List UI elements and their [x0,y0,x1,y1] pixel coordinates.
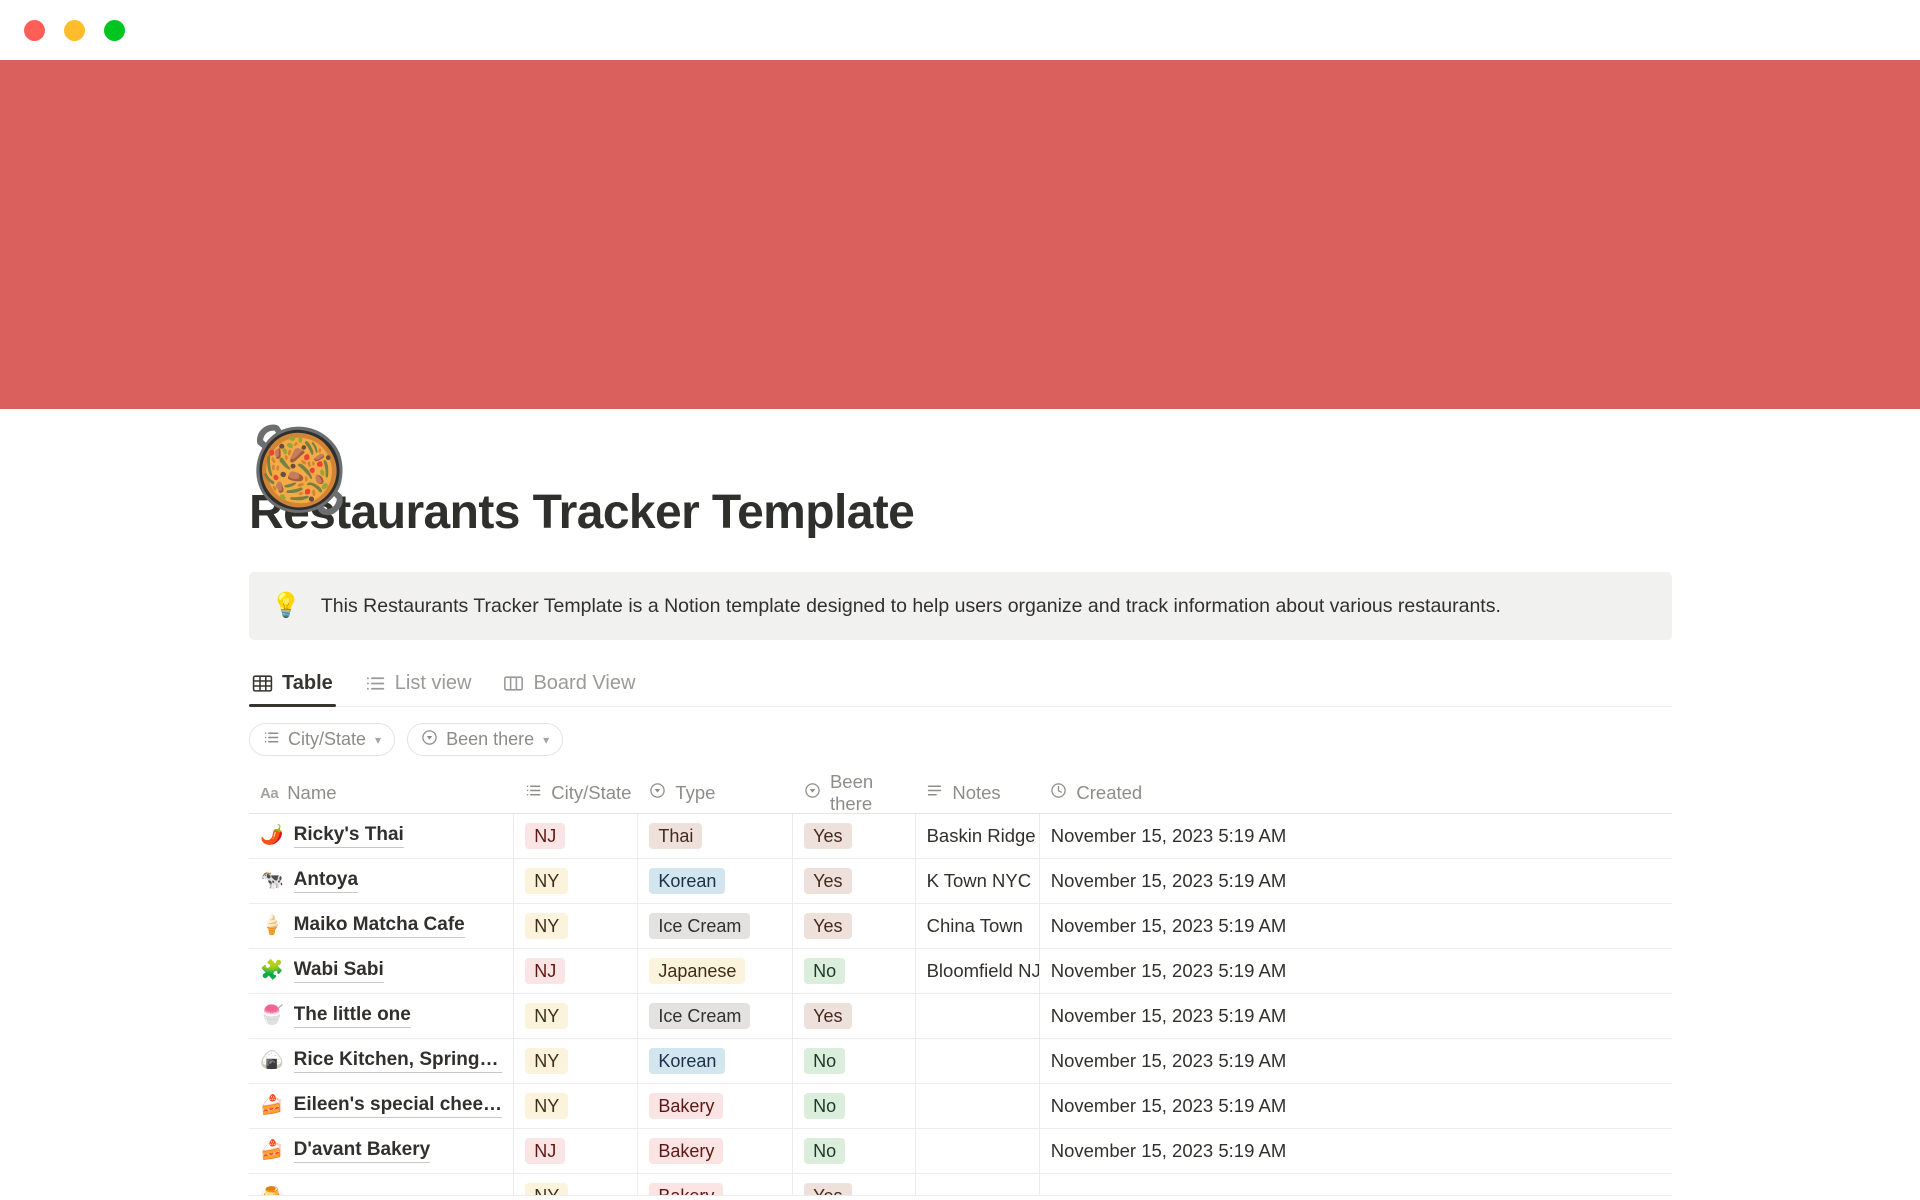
callout-block[interactable]: 💡 This Restaurants Tracker Template is a… [249,572,1672,640]
table-icon [252,673,273,694]
cell-created[interactable]: November 15, 2023 5:19 AM [1040,859,1672,903]
tag-type: Ice Cream [649,913,750,939]
row-emoji-icon: 🌶️ [260,825,284,847]
table-header: Aa Name [249,773,1672,814]
table-row[interactable]: 🍙 Rice Kitchen, Spring St, Soho NY Korea… [249,1039,1672,1084]
cell-city-state[interactable]: NY [514,1174,638,1196]
row-title[interactable]: The little one [294,1004,411,1028]
cell-been-there[interactable]: Yes [793,859,915,903]
chevron-down-icon: ▾ [543,733,549,747]
tag-been-there: Yes [804,1183,851,1196]
filter-chip-been-there[interactable]: Been there ▾ [407,723,563,756]
tag-been-there: No [804,1048,845,1074]
filter-chip-city-state-label: City/State [288,729,366,750]
row-emoji-icon: 🍰 [260,1140,284,1162]
column-header-type[interactable]: Type [638,773,793,813]
tag-city-state: NJ [525,823,565,849]
board-icon [503,673,524,694]
cell-name[interactable]: 🍧 The little one [249,994,514,1038]
row-title[interactable]: Ricky's Thai [294,824,404,848]
tag-been-there: No [804,1138,845,1164]
title-icon: Aa [260,785,278,802]
minimize-button[interactable] [64,20,85,41]
cell-been-there[interactable]: Yes [793,814,915,858]
tag-type: Japanese [649,958,745,984]
cell-type[interactable]: Bakery [638,1084,793,1128]
cell-notes[interactable]: K Town NYC [916,859,1040,903]
tab-board-view-label: Board View [533,672,635,695]
tag-city-state: NY [525,1048,568,1074]
column-header-city-state-label: City/State [551,782,631,804]
created-date: November 15, 2023 5:19 AM [1051,1140,1287,1162]
filter-bar: City/State ▾ Been there ▾ [249,723,1672,756]
cell-notes[interactable] [916,1084,1040,1128]
notes-text: Baskin Ridge [927,825,1036,847]
column-header-type-label: Type [675,782,715,804]
table-row[interactable]: 🍧 The little one NY Ice Cream Yes Novemb… [249,994,1672,1039]
cell-created[interactable] [1040,1174,1672,1196]
cell-notes[interactable]: Baskin Ridge [916,814,1040,858]
cell-notes[interactable]: China Town [916,904,1040,948]
cell-created[interactable]: November 15, 2023 5:19 AM [1040,994,1672,1038]
zoom-button[interactable] [104,20,125,41]
tag-been-there: Yes [804,868,851,894]
cell-created[interactable]: November 15, 2023 5:19 AM [1040,1129,1672,1173]
clock-icon [1050,782,1067,804]
table-row[interactable]: 🍰 D'avant Bakery NJ Bakery No November 1… [249,1129,1672,1174]
cell-created[interactable]: November 15, 2023 5:19 AM [1040,814,1672,858]
cell-name[interactable]: 🧩 Wabi Sabi [249,949,514,993]
row-emoji-icon: 🍧 [260,1005,284,1027]
row-emoji-icon: 🍙 [260,1050,284,1072]
tag-type: Ice Cream [649,1003,750,1029]
cell-city-state[interactable]: NJ [514,1129,638,1173]
row-emoji-icon: 🍮 [260,1185,284,1196]
cell-name[interactable]: 🍰 D'avant Bakery [249,1129,514,1173]
tag-type: Thai [649,823,702,849]
column-header-notes[interactable]: Notes [915,773,1039,813]
tag-type: Bakery [649,1183,723,1196]
select-icon [649,782,666,804]
tag-type: Korean [649,1048,725,1074]
cell-name[interactable]: 🌶️ Ricky's Thai [249,814,514,858]
tag-type: Bakery [649,1138,723,1164]
column-header-name[interactable]: Aa Name [249,773,514,813]
row-title[interactable]: Eileen's special cheesecake [294,1094,503,1118]
tab-table[interactable]: Table [249,668,336,706]
notes-text: Bloomfield NJ [927,960,1040,982]
tab-list-view[interactable]: List view [362,668,475,706]
lightbulb-icon: 💡 [271,592,301,620]
multiselect-icon [263,729,280,751]
table-header-row: Aa Name [249,773,1672,814]
tag-city-state: NY [525,868,568,894]
cell-created[interactable]: November 15, 2023 5:19 AM [1040,949,1672,993]
cell-been-there[interactable]: Yes [793,904,915,948]
cell-city-state[interactable]: NY [514,1039,638,1083]
chevron-down-icon: ▾ [375,733,381,747]
tag-been-there: Yes [804,913,851,939]
cell-been-there[interactable]: No [793,1129,915,1173]
cell-city-state[interactable]: NY [514,904,638,948]
tag-been-there: No [804,1093,845,1119]
row-title[interactable]: Antoya [294,869,358,893]
cell-name[interactable]: 🐄 Antoya [249,859,514,903]
created-date: November 15, 2023 5:19 AM [1051,1050,1287,1072]
tag-type: Bakery [649,1093,723,1119]
created-date: November 15, 2023 5:19 AM [1051,960,1287,982]
tag-city-state: NY [525,1003,568,1029]
cell-type[interactable]: Thai [638,814,793,858]
cell-notes[interactable] [916,1174,1040,1196]
column-header-created[interactable]: Created [1039,773,1672,813]
table-row[interactable]: 🍦 Maiko Matcha Cafe NY Ice Cream Yes Chi… [249,904,1672,949]
list-icon [365,673,386,694]
cell-created[interactable]: November 15, 2023 5:19 AM [1040,904,1672,948]
row-title[interactable]: D'avant Bakery [294,1139,431,1163]
table-row[interactable]: 🍮 NY Bakery Yes [249,1174,1672,1196]
cell-notes[interactable] [916,1039,1040,1083]
table-body: 🌶️ Ricky's Thai NJ Thai Yes Baskin Ridge… [249,814,1672,1196]
page-icon-emoji[interactable]: 🥘 [248,423,344,519]
cell-type[interactable]: Korean [638,859,793,903]
table-row[interactable]: 🍰 Eileen's special cheesecake NY Bakery … [249,1084,1672,1129]
cell-name[interactable]: 🍦 Maiko Matcha Cafe [249,904,514,948]
column-header-notes-label: Notes [952,782,1000,804]
tag-type: Korean [649,868,725,894]
created-date: November 15, 2023 5:19 AM [1051,915,1287,937]
notes-text: K Town NYC [927,870,1032,892]
cell-name[interactable]: 🍮 [249,1174,514,1196]
tab-table-label: Table [282,672,333,695]
page-title[interactable]: Restaurants Tracker Template [249,485,1672,540]
text-icon [926,782,943,804]
created-date: November 15, 2023 5:19 AM [1051,825,1287,847]
column-header-created-label: Created [1076,782,1142,804]
select-icon [804,782,821,804]
cell-notes[interactable] [916,1129,1040,1173]
table-row[interactable]: 🌶️ Ricky's Thai NJ Thai Yes Baskin Ridge… [249,814,1672,859]
table-row[interactable]: 🐄 Antoya NY Korean Yes K Town NYC Novemb… [249,859,1672,904]
database-table: Aa Name [249,773,1672,1196]
multiselect-icon [525,782,542,804]
cell-city-state[interactable]: NY [514,994,638,1038]
page-container: 🥘 Restaurants Tracker Template 💡 This Re… [0,485,1920,1200]
cell-type[interactable]: Japanese [638,949,793,993]
cell-created[interactable]: November 15, 2023 5:19 AM [1040,1039,1672,1083]
tab-list-view-label: List view [395,672,472,695]
tag-city-state: NJ [525,958,565,984]
row-title[interactable]: Rice Kitchen, Spring St, Soho [294,1049,503,1073]
tag-city-state: NY [525,913,568,939]
table-row[interactable]: 🧩 Wabi Sabi NJ Japanese No Bloomfield NJ… [249,949,1672,994]
cell-name[interactable]: 🍰 Eileen's special cheesecake [249,1084,514,1128]
row-title[interactable]: Wabi Sabi [294,959,384,983]
row-emoji-icon: 🍦 [260,915,284,937]
cell-type[interactable]: Bakery [638,1129,793,1173]
cell-type[interactable]: Ice Cream [638,904,793,948]
cell-notes[interactable]: Bloomfield NJ [916,949,1040,993]
cell-been-there[interactable]: No [793,949,915,993]
column-header-city-state[interactable]: City/State [514,773,638,813]
callout-text: This Restaurants Tracker Template is a N… [321,592,1501,620]
cell-been-there[interactable]: Yes [793,994,915,1038]
tab-board-view[interactable]: Board View [500,668,638,706]
cell-city-state[interactable]: NJ [514,949,638,993]
cell-city-state[interactable]: NJ [514,814,638,858]
tag-city-state: NJ [525,1138,565,1164]
cell-notes[interactable] [916,994,1040,1038]
column-header-name-label: Name [287,782,336,804]
created-date: November 15, 2023 5:19 AM [1051,870,1287,892]
row-emoji-icon: 🧩 [260,960,284,982]
column-header-been-there-label: Been there [830,773,904,813]
created-date: November 15, 2023 5:19 AM [1051,1005,1287,1027]
window-titlebar [0,0,1920,60]
tag-been-there: No [804,958,845,984]
row-emoji-icon: 🐄 [260,870,284,892]
row-title[interactable]: Maiko Matcha Cafe [294,914,465,938]
cell-type[interactable]: Korean [638,1039,793,1083]
cell-city-state[interactable]: NY [514,1084,638,1128]
filter-chip-been-there-label: Been there [446,729,534,750]
tag-city-state: NY [525,1093,568,1119]
database-view-tabs: Table List view [249,668,1672,707]
select-icon [421,729,438,751]
cell-city-state[interactable]: NY [514,859,638,903]
tag-been-there: Yes [804,1003,851,1029]
tag-city-state: NY [525,1183,568,1196]
created-date: November 15, 2023 5:19 AM [1051,1095,1287,1117]
window-controls [24,20,125,41]
cell-been-there[interactable]: No [793,1084,915,1128]
page-cover[interactable] [0,60,1920,409]
cell-type[interactable]: Ice Cream [638,994,793,1038]
row-emoji-icon: 🍰 [260,1095,284,1117]
page-content: Restaurants Tracker Template 💡 This Rest… [120,485,1800,1200]
notes-text: China Town [927,915,1023,937]
cell-created[interactable]: November 15, 2023 5:19 AM [1040,1084,1672,1128]
filter-chip-city-state[interactable]: City/State ▾ [249,723,395,756]
cell-type[interactable]: Bakery [638,1174,793,1196]
column-header-been-there[interactable]: Been there [793,773,915,813]
tag-been-there: Yes [804,823,851,849]
cell-been-there[interactable]: Yes [793,1174,915,1196]
cell-name[interactable]: 🍙 Rice Kitchen, Spring St, Soho [249,1039,514,1083]
cell-been-there[interactable]: No [793,1039,915,1083]
close-button[interactable] [24,20,45,41]
